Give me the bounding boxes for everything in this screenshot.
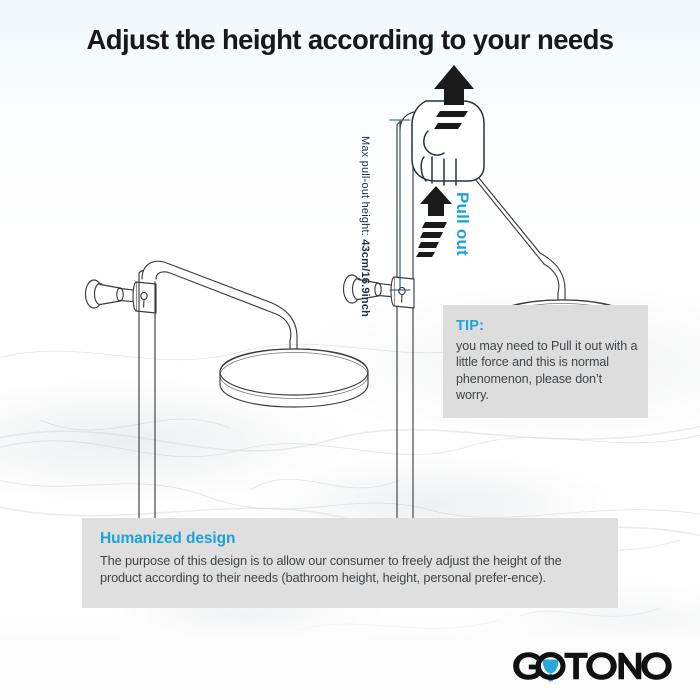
tip-body: you may need to Pull it out with a littl… [456, 338, 638, 404]
tip-heading: TIP: [456, 318, 484, 334]
humanized-body: The purpose of this design is to allow o… [100, 553, 600, 586]
infographic-canvas: Adjust the height according to your need… [0, 0, 700, 700]
humanized-heading: Humanized design [100, 530, 235, 548]
page-title: Adjust the height according to your need… [0, 24, 700, 56]
dimension-label-line2: 43cm/16.9inch [359, 239, 371, 317]
tip-panel: TIP: you may need to Pull it out with a … [443, 305, 648, 418]
dimension-label-line1: Max pull-out height: [359, 136, 371, 236]
dimension-line [386, 112, 414, 302]
dimension-label: Max pull-out height: 43cm/16.9inch [358, 136, 371, 317]
pull-out-label: Pull out [452, 192, 472, 256]
figure-shower-lowered [76, 255, 376, 545]
humanized-design-panel: Humanized design The purpose of this des… [82, 518, 618, 608]
pull-out-arrow [414, 186, 454, 258]
brand-logo [508, 648, 672, 684]
